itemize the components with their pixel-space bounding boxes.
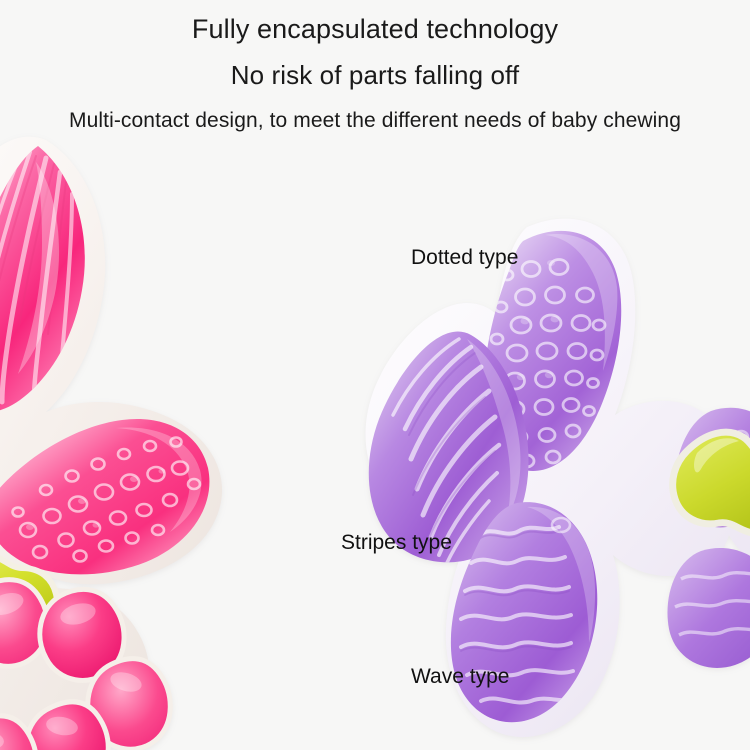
headline-line-1: Fully encapsulated technology bbox=[0, 14, 750, 45]
headline-line-3: Multi-contact design, to meet the differ… bbox=[0, 109, 750, 133]
product-image-canvas: Fully encapsulated technology No risk of… bbox=[0, 0, 750, 750]
callout-label-dotted-type: Dotted type bbox=[411, 246, 518, 270]
pink-flower-teether bbox=[0, 138, 290, 738]
callout-label-wave-type: Wave type bbox=[411, 665, 509, 689]
headline-line-2: No risk of parts falling off bbox=[0, 60, 750, 91]
callout-label-stripes-type: Stripes type bbox=[341, 531, 452, 555]
